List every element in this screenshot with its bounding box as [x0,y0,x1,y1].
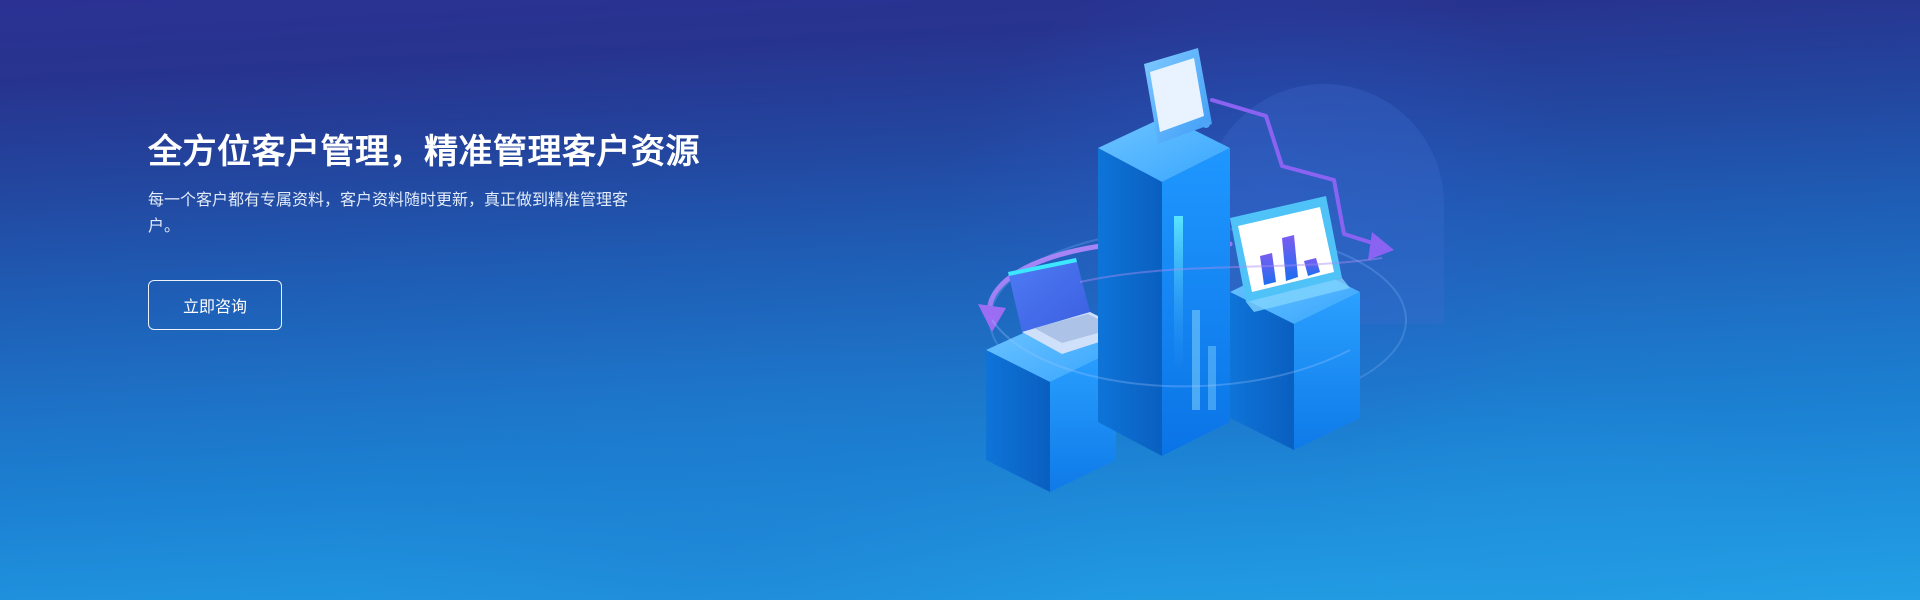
polyline-arrowhead [1368,232,1394,260]
center-pillar-bar-1 [1192,310,1200,410]
center-pillar-left-face [1098,148,1162,456]
center-pillar-bar-2 [1208,346,1216,410]
isometric-data-pillars-graphic [930,20,1490,580]
tablet-home-button [1202,120,1210,128]
orbit-arc-arrowhead [978,304,1006,332]
hero-subtitle: 每一个客户都有专属资料，客户资料随时更新，真正做到精准管理客户。 [148,188,628,240]
hero-banner: 全方位客户管理，精准管理客户资源 每一个客户都有专属资料，客户资料随时更新，真正… [0,0,1920,600]
hero-illustration [930,20,1490,580]
hero-copy-block: 全方位客户管理，精准管理客户资源 每一个客户都有专属资料，客户资料随时更新，真正… [148,130,788,330]
center-pillar-cyan-streak [1174,216,1183,366]
center-pillar [1098,116,1230,456]
page-title: 全方位客户管理，精准管理客户资源 [148,130,788,174]
consult-now-button[interactable]: 立即咨询 [148,280,282,330]
